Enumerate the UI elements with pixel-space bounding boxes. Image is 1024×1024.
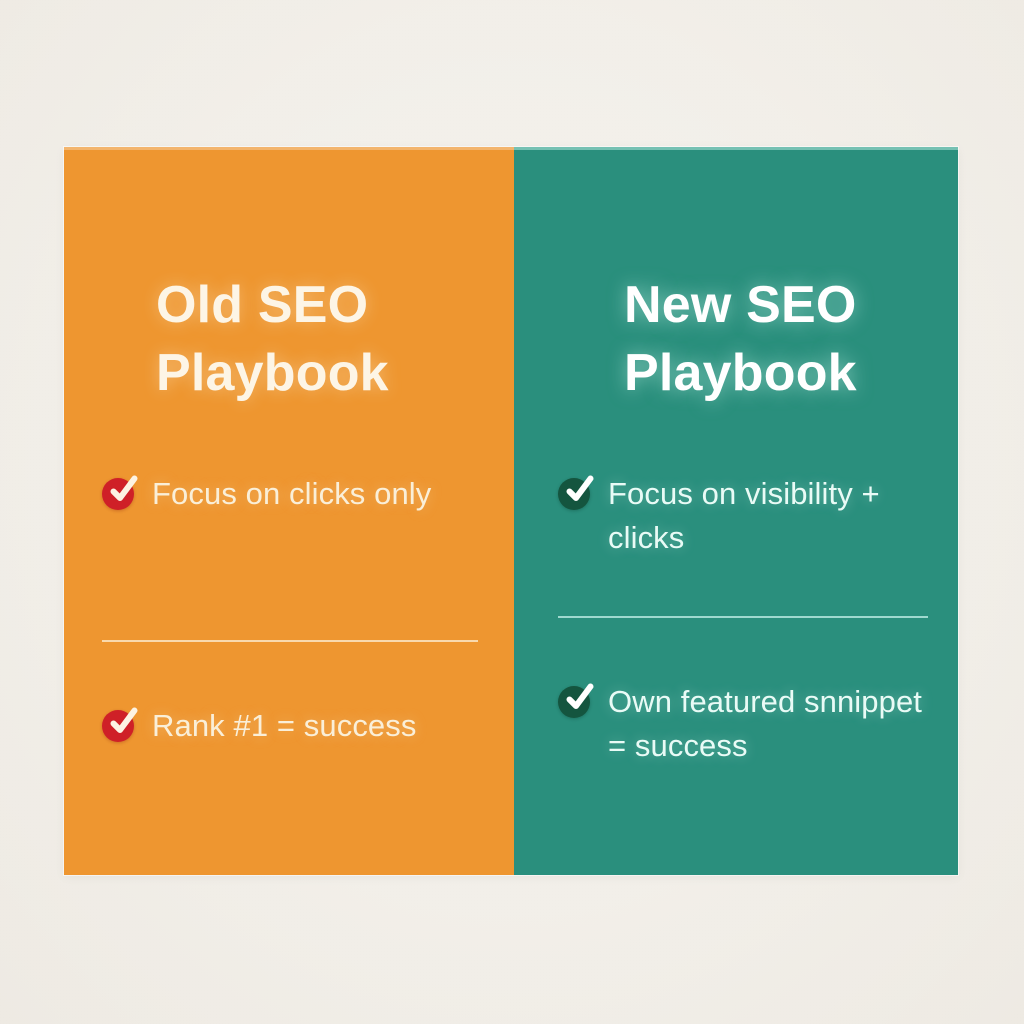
check-circle-icon xyxy=(558,684,592,718)
list-item-label: Own featured snnippet = success xyxy=(608,680,928,768)
panel-title-old: Old SEO Playbook xyxy=(156,272,456,407)
check-circle-icon xyxy=(102,708,136,742)
list-item: Own featured snnippet = success xyxy=(558,680,928,768)
panel-new-seo-playbook: New SEO Playbook Focus on visibility + c… xyxy=(514,147,958,875)
points-list-new: Focus on visibility + clicks Own feature… xyxy=(514,472,958,768)
points-list-old: Focus on clicks only Rank #1 = success xyxy=(64,472,514,748)
panel-old-seo-playbook: Old SEO Playbook Focus on clicks only xyxy=(64,147,514,875)
check-circle-icon xyxy=(102,476,136,510)
list-item-label: Focus on clicks only xyxy=(152,472,431,516)
divider-new xyxy=(558,616,928,618)
panel-title-new: New SEO Playbook xyxy=(624,272,934,407)
list-item: Focus on visibility + clicks xyxy=(558,472,928,582)
infographic-canvas: Old SEO Playbook Focus on clicks only xyxy=(0,0,1024,1024)
list-item-label: Focus on visibility + clicks xyxy=(608,472,928,560)
check-circle-icon xyxy=(558,476,592,510)
comparison-card: Old SEO Playbook Focus on clicks only xyxy=(64,147,958,875)
list-item: Focus on clicks only xyxy=(102,472,478,582)
list-item-label: Rank #1 = success xyxy=(152,704,416,748)
divider-old xyxy=(102,640,478,642)
list-item: Rank #1 = success xyxy=(102,704,478,748)
